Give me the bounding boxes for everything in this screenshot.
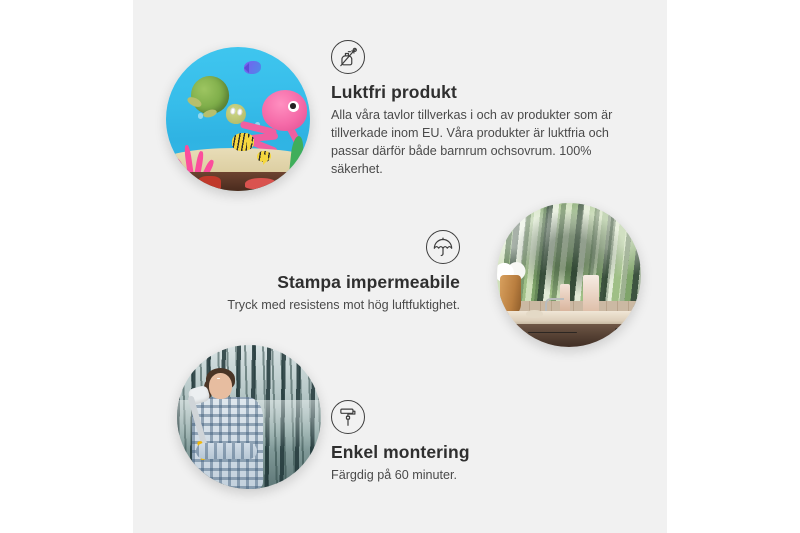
turtle-icon (186, 76, 244, 125)
forest-scene (177, 345, 321, 489)
feature-odourless: Luktfri produkt Alla våra tavlor tillver… (331, 40, 623, 179)
umbrella-icon (426, 230, 460, 264)
feature-description: Färgdig på 60 minuter. (331, 467, 611, 485)
octopus-head (262, 90, 308, 131)
smile (217, 378, 220, 379)
soap-dish (526, 310, 543, 319)
feature-title: Luktfri produkt (331, 82, 623, 103)
crossed-arms (196, 443, 257, 459)
vase (500, 275, 522, 315)
installer-forest-photo (177, 345, 321, 489)
underwater-scene (166, 47, 310, 191)
yellow-fish-icon (232, 133, 254, 150)
feature-waterproof: Stampa impermeabile Tryck med resistens … (205, 230, 460, 315)
yellow-fish-icon (257, 151, 271, 163)
underwater-cartoon-photo (166, 47, 310, 191)
feature-title: Stampa impermeabile (205, 272, 460, 293)
octopus-eye (288, 101, 299, 112)
paint-roller-icon (331, 400, 365, 434)
feature-description: Tryck med resistens mot hög luftfuktighe… (205, 297, 460, 315)
bottom-strip (166, 172, 310, 191)
face (209, 373, 232, 400)
installer-person (189, 368, 267, 489)
bathroom-scene (497, 203, 641, 347)
bathroom-wallpaper-photo (497, 203, 641, 347)
feature-title: Enkel montering (331, 442, 611, 463)
vanity-cabinet (503, 324, 641, 347)
feature-description: Alla våra tavlor tillverkas i och av pro… (331, 107, 623, 179)
bottle (583, 275, 599, 315)
feature-assembly: Enkel montering Färgdig på 60 minuter. (331, 400, 611, 485)
no-fragrance-icon (331, 40, 365, 74)
product-feature-infographic: Luktfri produkt Alla våra tavlor tillver… (0, 0, 800, 533)
